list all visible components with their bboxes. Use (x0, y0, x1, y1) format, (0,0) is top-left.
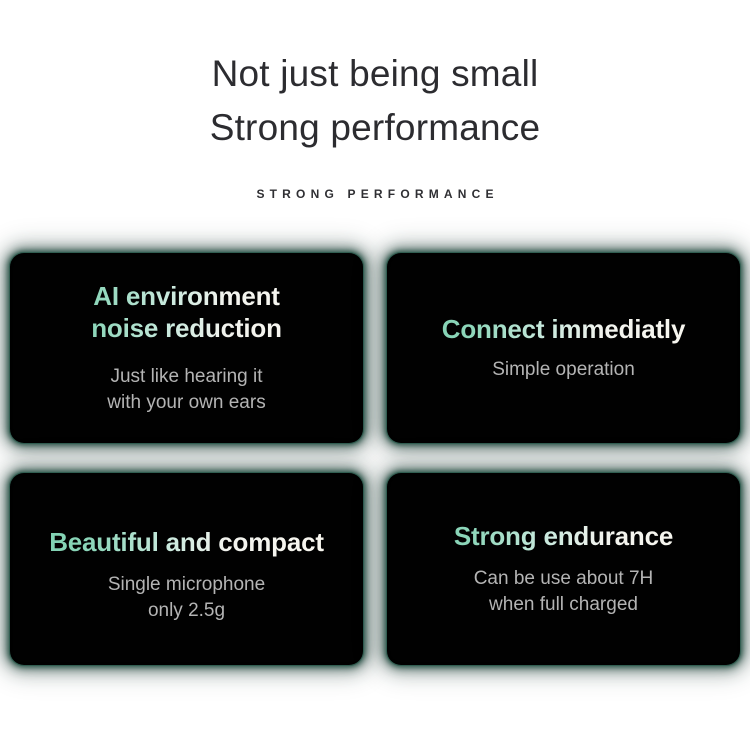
feature-card-content: Beautiful and compact Single microphone … (10, 526, 363, 624)
page-subtitle-eyebrow: STRONG PERFORMANCE (0, 187, 750, 201)
page-title-line-2: Strong performance (0, 101, 750, 155)
feature-card-title: AI environment noise reduction (24, 280, 349, 344)
feature-card-ai-noise-reduction: AI environment noise reduction Just like… (10, 253, 363, 443)
feature-card-subtitle: Simple operation (401, 357, 726, 383)
feature-card-subtitle: Can be use about 7H when full charged (401, 566, 726, 618)
feature-card-title: Connect immediatly (401, 313, 726, 345)
feature-card-title: Beautiful and compact (24, 526, 349, 558)
page-header: Not just being small Strong performance … (0, 0, 750, 201)
feature-card-content: Strong endurance Can be use about 7H whe… (387, 520, 740, 618)
feature-card-grid: AI environment noise reduction Just like… (10, 253, 740, 665)
feature-card-connect-immediatly: Connect immediatly Simple operation (387, 253, 740, 443)
feature-card-beautiful-and-compact: Beautiful and compact Single microphone … (10, 473, 363, 665)
page-title-line-1: Not just being small (0, 47, 750, 101)
feature-card-title: Strong endurance (401, 520, 726, 552)
feature-card-strong-endurance: Strong endurance Can be use about 7H whe… (387, 473, 740, 665)
feature-card-subtitle: Just like hearing it with your own ears (24, 364, 349, 416)
feature-card-content: AI environment noise reduction Just like… (10, 280, 363, 416)
feature-card-content: Connect immediatly Simple operation (387, 313, 740, 383)
feature-card-subtitle: Single microphone only 2.5g (24, 572, 349, 624)
promo-page: Not just being small Strong performance … (0, 0, 750, 750)
